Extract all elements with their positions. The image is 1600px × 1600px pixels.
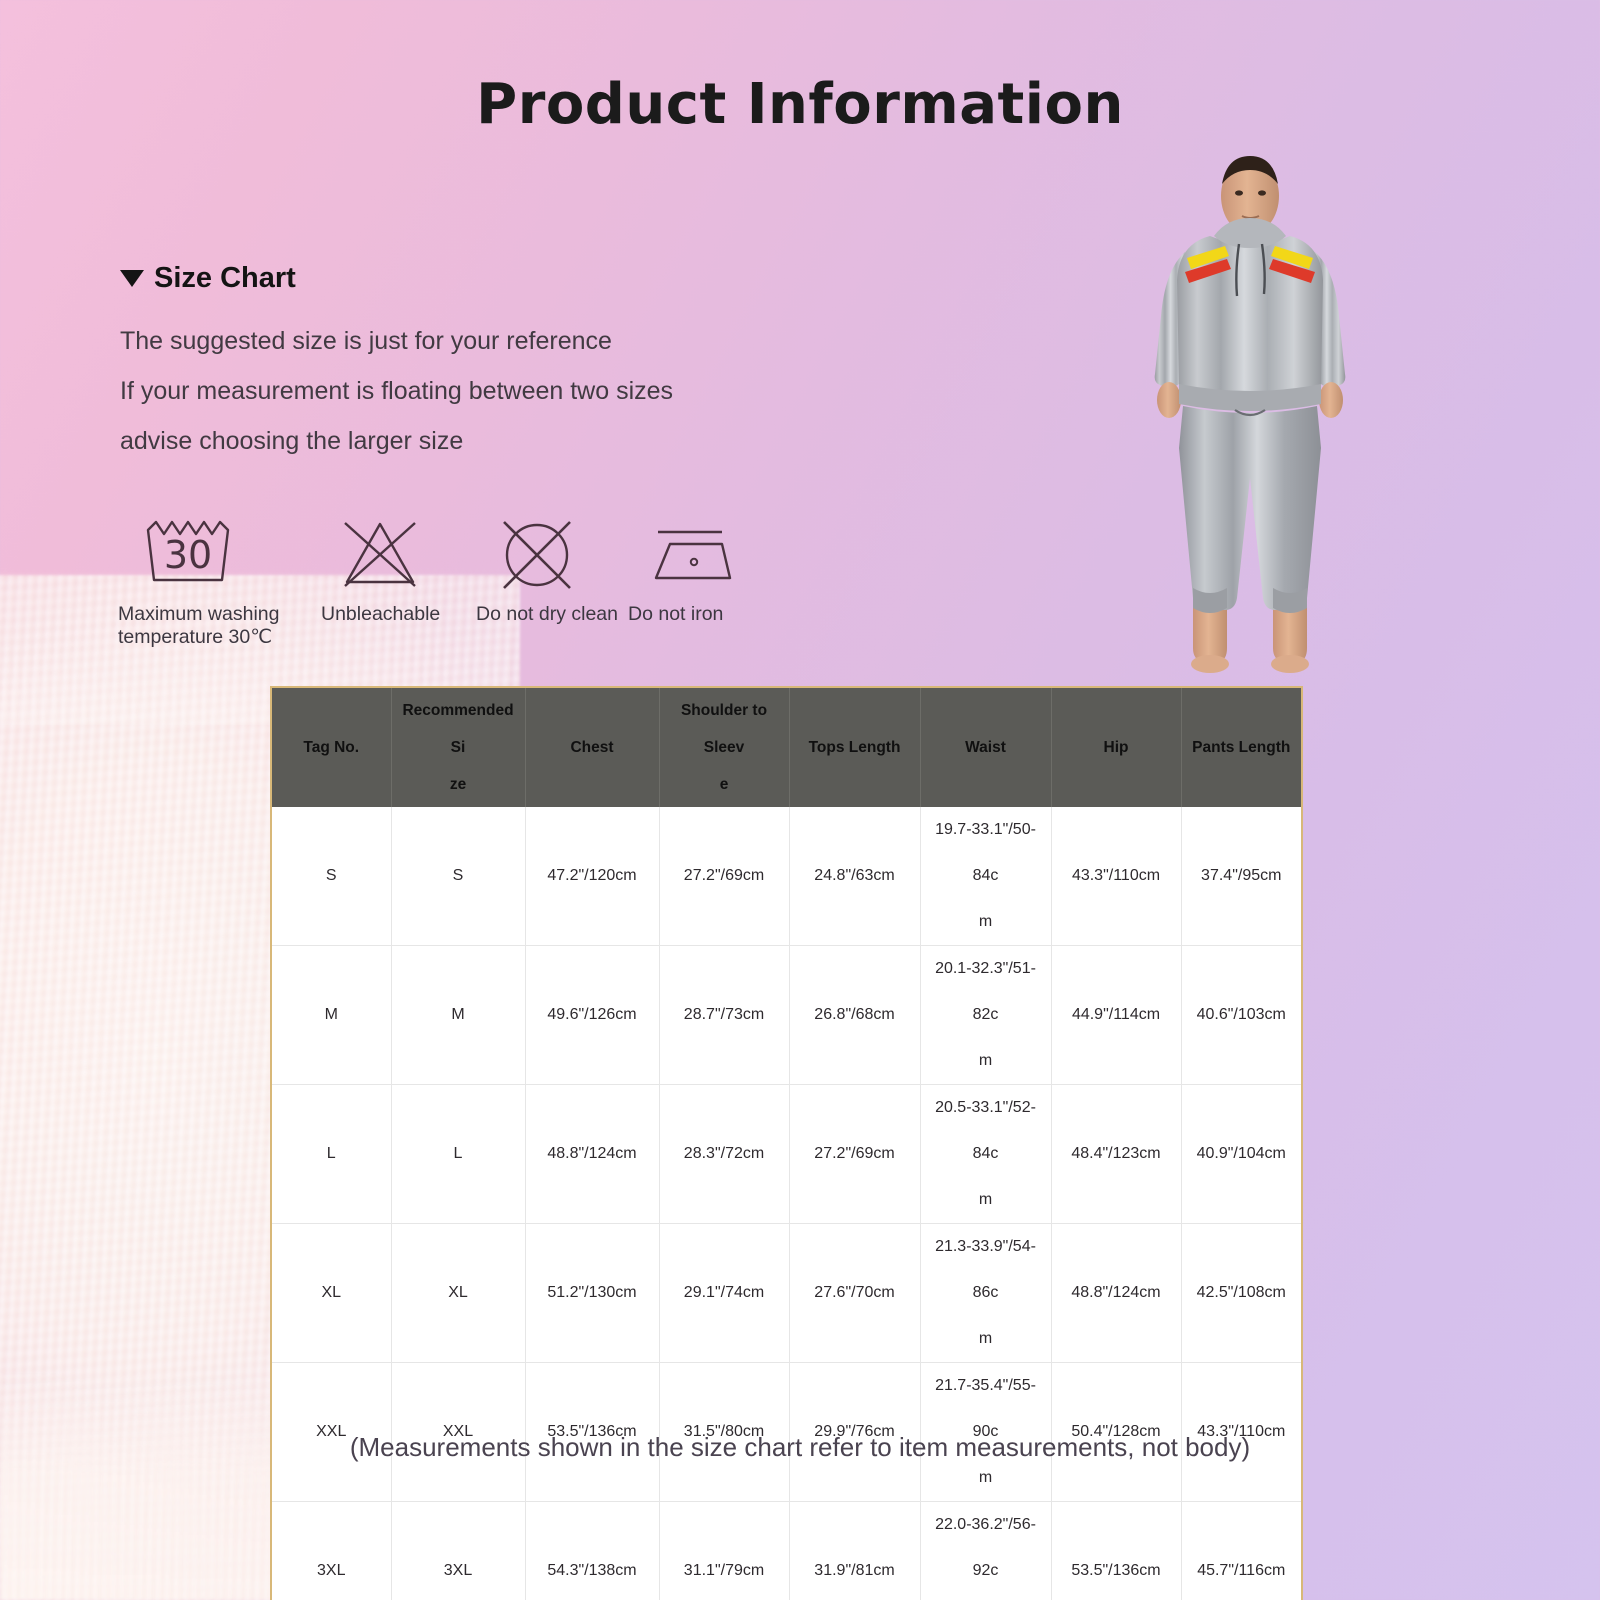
cell-tag-no: XL: [271, 1224, 391, 1363]
cell-tops-length: 27.2"/69cm: [789, 1085, 920, 1224]
cell-chest: 47.2"/120cm: [525, 807, 659, 946]
column-header-hip: Hip: [1051, 687, 1181, 807]
cell-hip: 53.5"/136cm: [1051, 1502, 1181, 1600]
cell-tag-no: 3XL: [271, 1502, 391, 1600]
size-note-line: The suggested size is just for your refe…: [120, 316, 673, 366]
column-header-waist: Waist: [920, 687, 1051, 807]
cell-waist: 20.1-32.3"/51-82cm: [920, 946, 1051, 1085]
care-symbol-iron: Do not iron: [628, 512, 768, 626]
table-row: MM49.6"/126cm28.7"/73cm26.8"/68cm20.1-32…: [271, 946, 1302, 1085]
cell-shoulder-to-sleeve: 27.2"/69cm: [659, 807, 789, 946]
cell-recommended-size: XL: [391, 1224, 525, 1363]
footer-note: (Measurements shown in the size chart re…: [0, 1432, 1600, 1463]
cell-tops-length: 24.8"/63cm: [789, 807, 920, 946]
cell-chest: 54.3"/138cm: [525, 1502, 659, 1600]
wash-30-icon: 30: [118, 512, 321, 598]
care-symbol-bleach: Unbleachable: [321, 512, 476, 626]
product-model-photo: [1115, 148, 1385, 678]
column-header-shoulder-to-sleeve: Shoulder to Sleev e: [659, 687, 789, 807]
cell-shoulder-to-sleeve: 31.1"/79cm: [659, 1502, 789, 1600]
cell-waist: 20.5-33.1"/52-84cm: [920, 1085, 1051, 1224]
cell-tag-no: M: [271, 946, 391, 1085]
cell-shoulder-to-sleeve: 28.3"/72cm: [659, 1085, 789, 1224]
cell-recommended-size: S: [391, 807, 525, 946]
cell-waist: 21.3-33.9"/54-86cm: [920, 1224, 1051, 1363]
cell-pants-length: 40.6"/103cm: [1181, 946, 1302, 1085]
cell-tag-no: S: [271, 807, 391, 946]
table-row: LL48.8"/124cm28.3"/72cm27.2"/69cm20.5-33…: [271, 1085, 1302, 1224]
size-note-line: advise choosing the larger size: [120, 416, 673, 466]
cell-hip: 48.8"/124cm: [1051, 1224, 1181, 1363]
do-not-bleach-icon: [321, 512, 476, 598]
table-row: XLXL51.2"/130cm29.1"/74cm27.6"/70cm21.3-…: [271, 1224, 1302, 1363]
cell-recommended-size: L: [391, 1085, 525, 1224]
care-caption-bleach: Unbleachable: [321, 603, 476, 626]
cell-shoulder-to-sleeve: 28.7"/73cm: [659, 946, 789, 1085]
care-symbol-wash: 30 Maximum washing temperature 30℃: [118, 512, 321, 649]
cell-shoulder-to-sleeve: 29.1"/74cm: [659, 1224, 789, 1363]
triangle-down-icon: [120, 270, 144, 287]
page-title: Product Information: [0, 72, 1600, 137]
size-chart-label: Size Chart: [154, 262, 296, 295]
cell-hip: 43.3"/110cm: [1051, 807, 1181, 946]
care-caption-iron: Do not iron: [628, 603, 768, 626]
cell-chest: 51.2"/130cm: [525, 1224, 659, 1363]
column-header-recommended-size: Recommended Si ze: [391, 687, 525, 807]
size-chart-notes: The suggested size is just for your refe…: [120, 316, 673, 466]
care-symbol-dry-clean: Do not dry clean: [476, 512, 628, 626]
cell-hip: 44.9"/114cm: [1051, 946, 1181, 1085]
cell-hip: 48.4"/123cm: [1051, 1085, 1181, 1224]
cell-waist: 22.0-36.2"/56-92cm: [920, 1502, 1051, 1600]
cell-recommended-size: M: [391, 946, 525, 1085]
cell-pants-length: 42.5"/108cm: [1181, 1224, 1302, 1363]
column-header-pants-length: Pants Length: [1181, 687, 1302, 807]
size-chart-heading: Size Chart: [120, 262, 296, 295]
cell-tops-length: 27.6"/70cm: [789, 1224, 920, 1363]
column-header-tops-length: Tops Length: [789, 687, 920, 807]
care-caption-wash: Maximum washing temperature 30℃: [118, 603, 321, 649]
cell-pants-length: 40.9"/104cm: [1181, 1085, 1302, 1224]
column-header-tag-no: Tag No.: [271, 687, 391, 807]
cell-tops-length: 26.8"/68cm: [789, 946, 920, 1085]
do-not-iron-icon: [628, 512, 768, 598]
cell-tag-no: L: [271, 1085, 391, 1224]
svg-text:30: 30: [164, 533, 212, 577]
care-symbols-row: 30 Maximum washing temperature 30℃ Unble…: [118, 512, 768, 649]
cell-chest: 48.8"/124cm: [525, 1085, 659, 1224]
cell-pants-length: 37.4"/95cm: [1181, 807, 1302, 946]
table-body: SS47.2"/120cm27.2"/69cm24.8"/63cm19.7-33…: [271, 807, 1302, 1600]
table-row: 3XL3XL54.3"/138cm31.1"/79cm31.9"/81cm22.…: [271, 1502, 1302, 1600]
do-not-dry-clean-icon: [476, 512, 628, 598]
cell-chest: 49.6"/126cm: [525, 946, 659, 1085]
size-note-line: If your measurement is floating between …: [120, 366, 673, 416]
cell-recommended-size: 3XL: [391, 1502, 525, 1600]
cell-tops-length: 31.9"/81cm: [789, 1502, 920, 1600]
cell-pants-length: 45.7"/116cm: [1181, 1502, 1302, 1600]
table-header-row: Tag No. Recommended Si ze Chest Shoulder…: [271, 687, 1302, 807]
cell-waist: 19.7-33.1"/50-84cm: [920, 807, 1051, 946]
care-caption-dry-clean: Do not dry clean: [476, 603, 628, 626]
column-header-chest: Chest: [525, 687, 659, 807]
table-row: SS47.2"/120cm27.2"/69cm24.8"/63cm19.7-33…: [271, 807, 1302, 946]
